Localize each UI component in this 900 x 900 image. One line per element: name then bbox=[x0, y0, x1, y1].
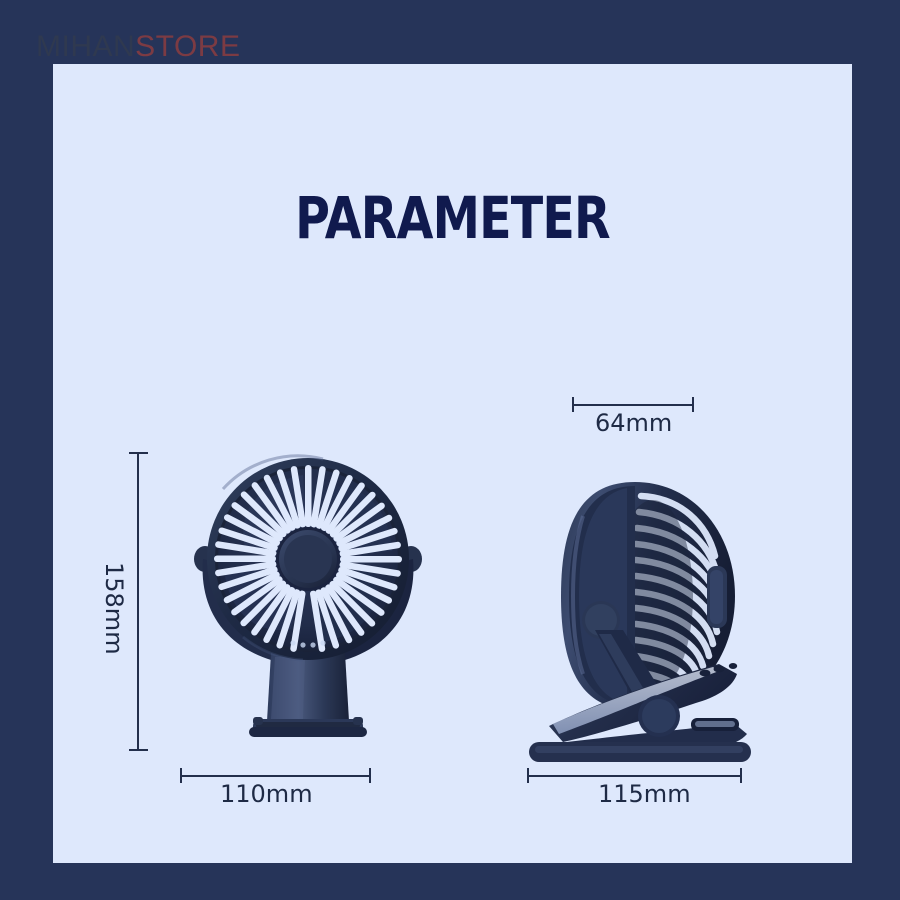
dimension-cap-right-width-start bbox=[527, 768, 529, 783]
watermark: MIHANSTORE bbox=[36, 32, 240, 62]
dimension-label-right-width: 115mm bbox=[598, 782, 691, 806]
dimension-line-left-height bbox=[137, 452, 139, 750]
fan-side-view-illustration bbox=[523, 424, 783, 774]
dimension-line-left-width bbox=[180, 775, 371, 777]
dimension-label-left-height: 158mm bbox=[102, 562, 126, 655]
page-title: PARAMETER bbox=[125, 189, 780, 247]
dimension-label-right-depth: 64mm bbox=[595, 411, 672, 435]
dimension-cap-left-width-start bbox=[180, 768, 182, 783]
dimension-cap-right-width-end bbox=[740, 768, 742, 783]
fan-front-view-illustration bbox=[153, 439, 463, 769]
watermark-brand-secondary: STORE bbox=[135, 30, 240, 63]
dimension-cap-right-depth-end bbox=[692, 397, 694, 412]
dimension-cap-bottom-left bbox=[129, 749, 148, 751]
dimension-line-right-width bbox=[527, 775, 742, 777]
dimension-cap-top-left bbox=[129, 452, 148, 454]
dimension-cap-left-width-end bbox=[369, 768, 371, 783]
watermark-brand-primary: MIHAN bbox=[36, 30, 135, 63]
content-panel: PARAMETER bbox=[53, 64, 852, 863]
dimension-label-left-width: 110mm bbox=[220, 782, 313, 806]
dimension-cap-right-depth-start bbox=[572, 397, 574, 412]
product-spec-image: MIHANSTORE PARAMETER bbox=[0, 0, 900, 900]
dimension-line-right-depth bbox=[572, 404, 694, 406]
